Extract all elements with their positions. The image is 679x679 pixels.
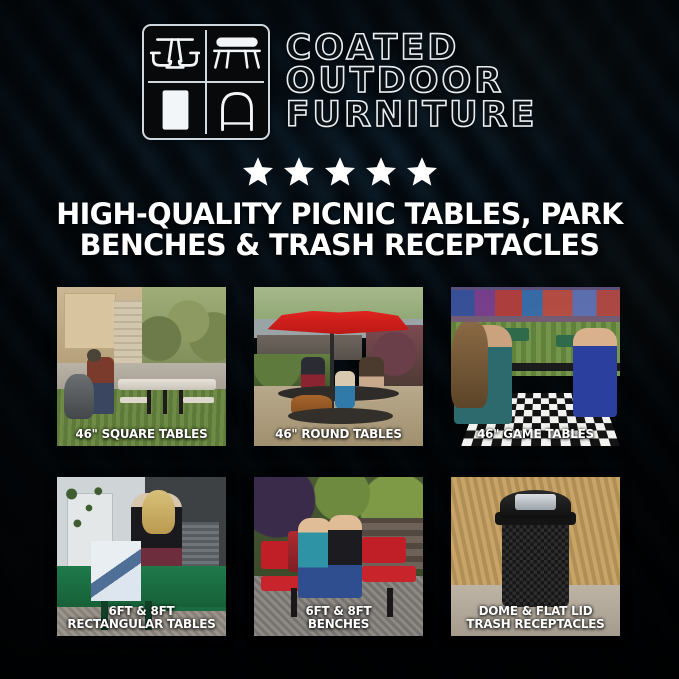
product-caption-benches: 6FT & 8FT BENCHES xyxy=(257,605,419,631)
product-tile-benches[interactable]: 6FT & 8FT BENCHES xyxy=(254,477,423,636)
product-category-grid: 46" SQUARE TABLES 46" ROUND TABLES xyxy=(57,287,620,636)
product-tile-rectangular-tables[interactable]: 6FT & 8FT RECTANGULAR TABLES xyxy=(57,477,226,636)
star-rating xyxy=(0,156,679,187)
star-icon xyxy=(365,156,397,187)
star-icon xyxy=(406,156,438,187)
product-photo-game-tables xyxy=(451,287,620,446)
star-icon xyxy=(242,156,274,187)
brand-lockup: COATED OUTDOOR FURNITURE xyxy=(0,0,679,140)
arch-bike-rack-icon xyxy=(206,82,268,138)
product-tile-trash-receptacles[interactable]: DOME & FLAT LID TRASH RECEPTACLES xyxy=(451,477,620,636)
product-caption-trash-receptacles: DOME & FLAT LID TRASH RECEPTACLES xyxy=(454,605,616,631)
brand-wordmark: COATED OUTDOOR FURNITURE xyxy=(286,32,538,133)
headline-line-1: HIGH-QUALITY PICNIC TABLES, PARK xyxy=(35,199,643,230)
page-title: HIGH-QUALITY PICNIC TABLES, PARK BENCHES… xyxy=(10,199,669,262)
picnic-table-icon xyxy=(144,26,206,82)
banner-header: COATED OUTDOOR FURNITURE HIGH-QUALITY PI… xyxy=(0,0,679,262)
product-tile-round-tables[interactable]: 46" ROUND TABLES xyxy=(254,287,423,446)
coated-outdoor-furniture-logo xyxy=(142,24,270,140)
brand-name-line-3: FURNITURE xyxy=(286,99,538,133)
product-photo-square-tables xyxy=(57,287,226,446)
park-bench-icon xyxy=(206,26,268,82)
product-tile-game-tables[interactable]: 46" GAME TABLES xyxy=(451,287,620,446)
product-tile-square-tables[interactable]: 46" SQUARE TABLES xyxy=(57,287,226,446)
product-caption-rectangular-tables: 6FT & 8FT RECTANGULAR TABLES xyxy=(60,605,222,631)
brand-name-line-2: OUTDOOR xyxy=(286,65,538,99)
product-caption-game-tables: 46" GAME TABLES xyxy=(454,428,616,441)
headline-line-2: BENCHES & TRASH RECEPTACLES xyxy=(35,230,643,261)
trash-receptacle-icon xyxy=(144,82,206,138)
star-icon xyxy=(324,156,356,187)
promo-banner: COATED OUTDOOR FURNITURE HIGH-QUALITY PI… xyxy=(0,0,679,679)
product-caption-round-tables: 46" ROUND TABLES xyxy=(257,428,419,441)
star-icon xyxy=(283,156,315,187)
product-photo-round-tables xyxy=(254,287,423,446)
product-caption-square-tables: 46" SQUARE TABLES xyxy=(60,428,222,441)
